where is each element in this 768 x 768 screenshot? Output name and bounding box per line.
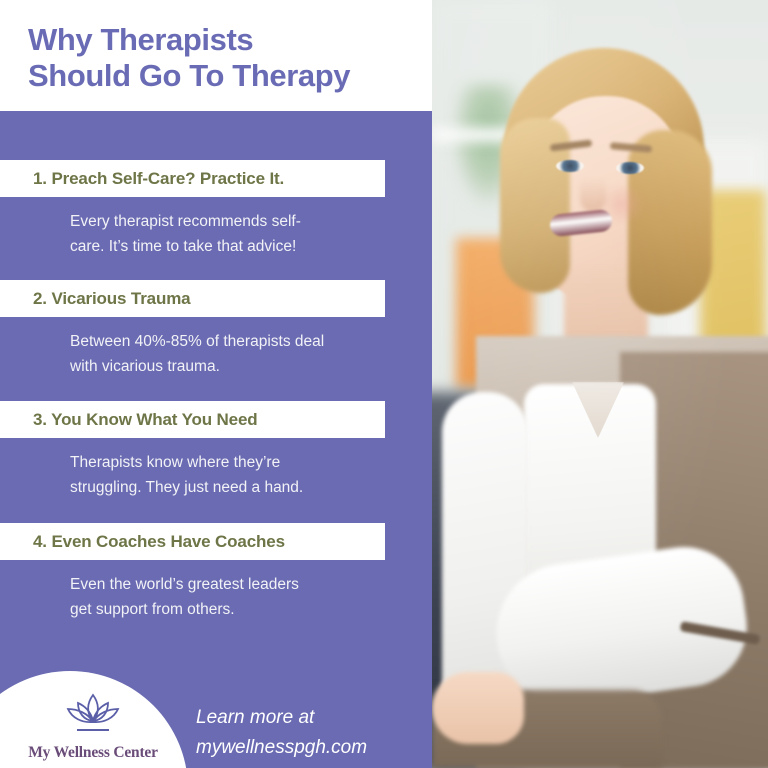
page-title-line-2: Should Go To Therapy bbox=[28, 58, 428, 94]
item-heading-label: 4. Even Coaches Have Coaches bbox=[33, 532, 285, 552]
list-item: 4. Even Coaches Have Coaches Even the wo… bbox=[0, 523, 432, 622]
page-title: Why Therapists Should Go To Therapy bbox=[28, 22, 428, 94]
item-body-line-2: with vicarious trauma. bbox=[70, 354, 390, 379]
list-item: 2. Vicarious Trauma Between 40%-85% of t… bbox=[0, 280, 432, 379]
lotus-flower-icon bbox=[59, 690, 127, 740]
list-item: 3. You Know What You Need Therapists kno… bbox=[0, 401, 432, 500]
page-title-line-1: Why Therapists bbox=[28, 22, 428, 58]
cta-website-url[interactable]: mywellnesspgh.com bbox=[196, 733, 426, 763]
item-body-line-2: get support from others. bbox=[70, 597, 390, 622]
item-body-text: Even the world’s greatest leaders get su… bbox=[70, 572, 390, 622]
list-item: 1. Preach Self-Care? Practice It. Every … bbox=[0, 160, 432, 259]
item-heading-label: 3. You Know What You Need bbox=[33, 410, 258, 430]
item-body-line-1: Even the world’s greatest leaders bbox=[70, 572, 390, 597]
item-heading-bar: 2. Vicarious Trauma bbox=[0, 280, 385, 317]
item-body-line-2: care. It’s time to take that advice! bbox=[70, 234, 390, 259]
item-heading-label: 2. Vicarious Trauma bbox=[33, 289, 190, 309]
item-body-line-1: Between 40%-85% of therapists deal bbox=[70, 329, 390, 354]
item-body-line-1: Therapists know where they’re bbox=[70, 450, 390, 475]
item-body-line-2: struggling. They just need a hand. bbox=[70, 475, 390, 500]
item-body-text: Therapists know where they’re struggling… bbox=[70, 450, 390, 500]
item-body-text: Between 40%-85% of therapists deal with … bbox=[70, 329, 390, 379]
cta-line-1: Learn more at bbox=[196, 703, 426, 733]
item-heading-bar: 4. Even Coaches Have Coaches bbox=[0, 523, 385, 560]
photo-light-overlay bbox=[432, 0, 768, 768]
hero-photo bbox=[432, 0, 768, 768]
item-heading-bar: 1. Preach Self-Care? Practice It. bbox=[0, 160, 385, 197]
item-heading-bar: 3. You Know What You Need bbox=[0, 401, 385, 438]
infographic-canvas: Why Therapists Should Go To Therapy 1. P… bbox=[0, 0, 768, 768]
brand-logo[interactable]: My Wellness Center bbox=[18, 690, 168, 762]
cta-block: Learn more at mywellnesspgh.com bbox=[196, 703, 426, 763]
left-content-panel: Why Therapists Should Go To Therapy 1. P… bbox=[0, 0, 432, 768]
brand-name: My Wellness Center bbox=[18, 744, 168, 762]
item-body-text: Every therapist recommends self- care. I… bbox=[70, 209, 390, 259]
item-body-line-1: Every therapist recommends self- bbox=[70, 209, 390, 234]
item-heading-label: 1. Preach Self-Care? Practice It. bbox=[33, 169, 284, 189]
